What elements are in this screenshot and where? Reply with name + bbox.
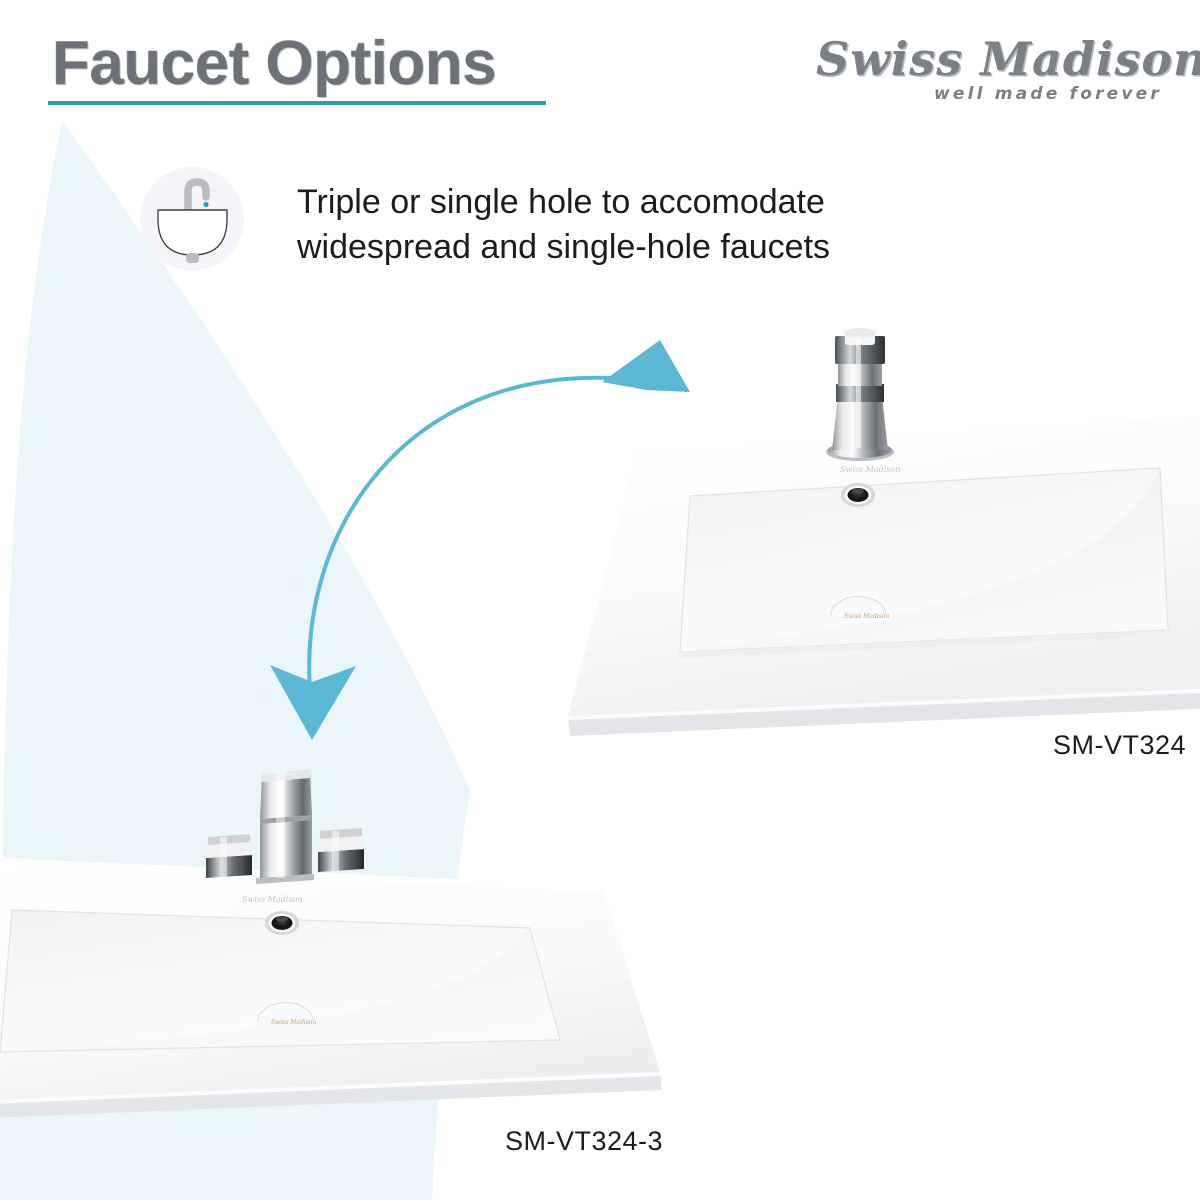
infographic-page: Faucet Options Swiss Madison® well made … [0,0,1200,1200]
product-label-sm-vt324: SM-VT324 [1053,730,1186,761]
single-hole-faucet [826,328,894,461]
sink-with-faucet-icon [140,163,245,275]
page-title: Faucet Options [52,28,496,99]
brand-logo: Swiss Madison® well made forever [816,36,1166,114]
feature-line-2: widespread and single-hole faucets [297,225,977,270]
feature-description: Triple or single hole to accomodate wide… [297,180,977,270]
brand-tagline: well made forever [816,84,1162,104]
svg-text:Swiss Madison: Swiss Madison [844,613,889,620]
product-label-sm-vt324-3: SM-VT324-3 [505,1126,663,1157]
svg-text:Swiss Madison: Swiss Madison [242,895,302,904]
svg-text:Swiss Madison: Swiss Madison [840,465,900,474]
brand-name-text: Swiss Madison [816,32,1200,86]
product-image-sm-vt324: Swiss Madison Swiss Madison [520,300,1200,740]
title-underline [48,101,546,105]
widespread-three-hole-faucet [206,770,364,884]
product-image-sm-vt324-3: Swiss Madison Swiss Madison [0,760,690,1130]
svg-text:Swiss Madison: Swiss Madison [271,1019,316,1026]
brand-name: Swiss Madison® [816,36,1166,82]
feature-line-1: Triple or single hole to accomodate [297,180,977,225]
